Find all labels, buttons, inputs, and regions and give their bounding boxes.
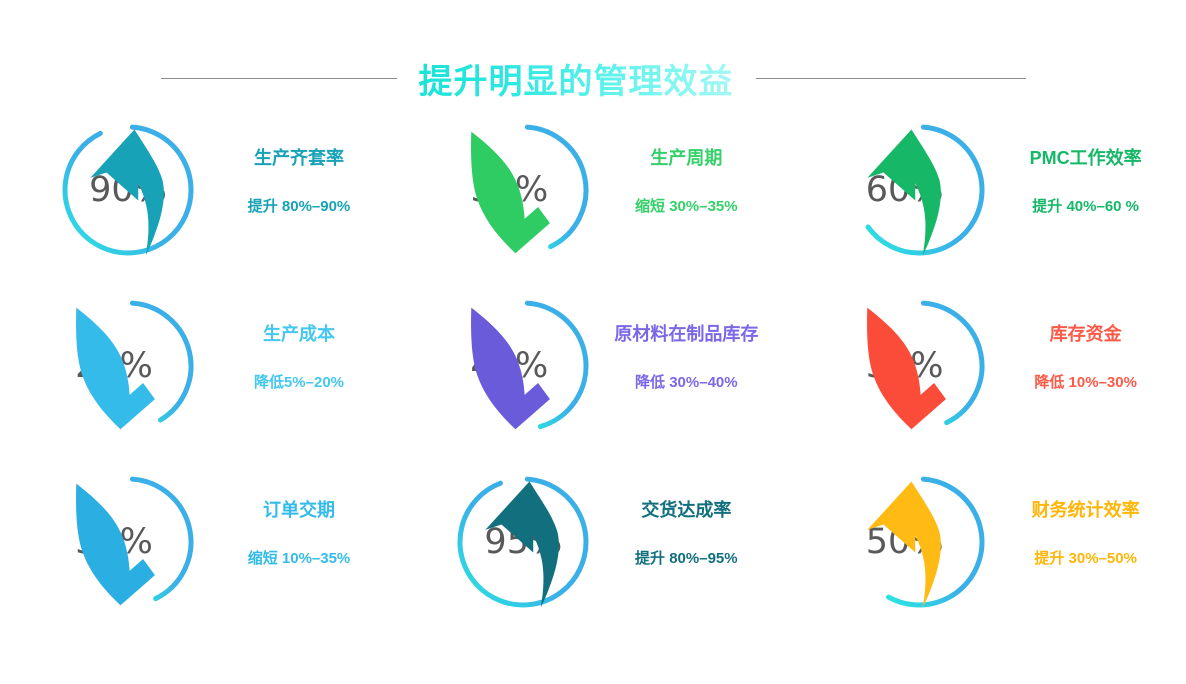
metric-subtitle: 提升 40%–60 % xyxy=(1032,198,1139,216)
metric-labels: 库存资金降低 10%–30% xyxy=(1011,324,1161,392)
metric-labels: 生产齐套率提升 80%–90% xyxy=(224,148,374,216)
gauge-center: 40% xyxy=(439,296,579,436)
gauge-center: 95% xyxy=(453,472,593,612)
gauge-ring: 90% xyxy=(58,120,198,260)
metric-card[interactable]: 95%交货达成率提升 80%–95% xyxy=(395,470,790,646)
gauge-center: 60% xyxy=(835,120,975,260)
metric-title: 订单交期 xyxy=(263,500,335,522)
gauge-center: 50% xyxy=(835,472,975,612)
page-title: 提升明显的管理效益 xyxy=(419,54,734,103)
metric-card[interactable]: 35%订单交期缩短 10%–35% xyxy=(0,470,395,646)
metric-subtitle: 提升 80%–95% xyxy=(635,550,738,568)
metric-labels: 财务统计效率提升 30%–50% xyxy=(1011,500,1161,568)
gauge-ring: 95% xyxy=(453,472,593,612)
metric-labels: 原材料在制品库存降低 30%–40% xyxy=(611,324,761,392)
metric-title: 财务统计效率 xyxy=(1032,500,1140,522)
title-rule-left xyxy=(161,78,397,79)
metric-subtitle: 降低 30%–40% xyxy=(635,374,738,392)
gauge-ring: 35% xyxy=(453,120,593,260)
metric-title: 生产周期 xyxy=(650,148,722,170)
metric-card[interactable]: 40%原材料在制品库存降低 30%–40% xyxy=(395,294,790,470)
metric-subtitle: 提升 80%–90% xyxy=(248,198,351,216)
metric-subtitle: 降低5%–20% xyxy=(254,374,344,392)
metric-title: 库存资金 xyxy=(1050,324,1122,346)
title-rule-right xyxy=(756,78,1026,79)
metric-title: 交货达成率 xyxy=(641,500,731,522)
page-header: 提升明显的管理效益 xyxy=(0,48,1186,108)
metric-card[interactable]: 90%生产齐套率提升 80%–90% xyxy=(0,118,395,294)
metric-subtitle: 降低 10%–30% xyxy=(1034,374,1137,392)
metric-card[interactable]: 35%生产周期缩短 30%–35% xyxy=(395,118,790,294)
metric-card[interactable]: 60%PMC工作效率提升 40%–60 % xyxy=(791,118,1186,294)
metric-labels: 交货达成率提升 80%–95% xyxy=(611,500,761,568)
gauge-ring: 40% xyxy=(453,296,593,436)
metric-grid: 90%生产齐套率提升 80%–90%35%生产周期缩短 30%–35%60%PM… xyxy=(0,118,1186,646)
gauge-center: 35% xyxy=(44,472,184,612)
gauge-center: 30% xyxy=(835,296,975,436)
metric-card[interactable]: 50%财务统计效率提升 30%–50% xyxy=(791,470,1186,646)
gauge-center: 90% xyxy=(58,120,198,260)
gauge-ring: 60% xyxy=(849,120,989,260)
gauge-center: 35% xyxy=(439,120,579,260)
gauge-ring: 35% xyxy=(58,472,198,612)
metric-subtitle: 缩短 30%–35% xyxy=(635,198,738,216)
gauge-ring: 30% xyxy=(849,296,989,436)
metric-title: PMC工作效率 xyxy=(1030,148,1142,170)
metric-card[interactable]: 30%库存资金降低 10%–30% xyxy=(791,294,1186,470)
metric-title: 生产成本 xyxy=(263,324,335,346)
metric-labels: 生产成本降低5%–20% xyxy=(224,324,374,392)
gauge-ring: 50% xyxy=(849,472,989,612)
gauge-ring: 20% xyxy=(58,296,198,436)
metric-title: 原材料在制品库存 xyxy=(614,324,758,346)
metric-subtitle: 缩短 10%–35% xyxy=(248,550,351,568)
metric-labels: 订单交期缩短 10%–35% xyxy=(224,500,374,568)
metric-subtitle: 提升 30%–50% xyxy=(1034,550,1137,568)
metric-labels: 生产周期缩短 30%–35% xyxy=(611,148,761,216)
metric-card[interactable]: 20%生产成本降低5%–20% xyxy=(0,294,395,470)
metric-title: 生产齐套率 xyxy=(254,148,344,170)
metric-labels: PMC工作效率提升 40%–60 % xyxy=(1011,148,1161,216)
gauge-center: 20% xyxy=(44,296,184,436)
